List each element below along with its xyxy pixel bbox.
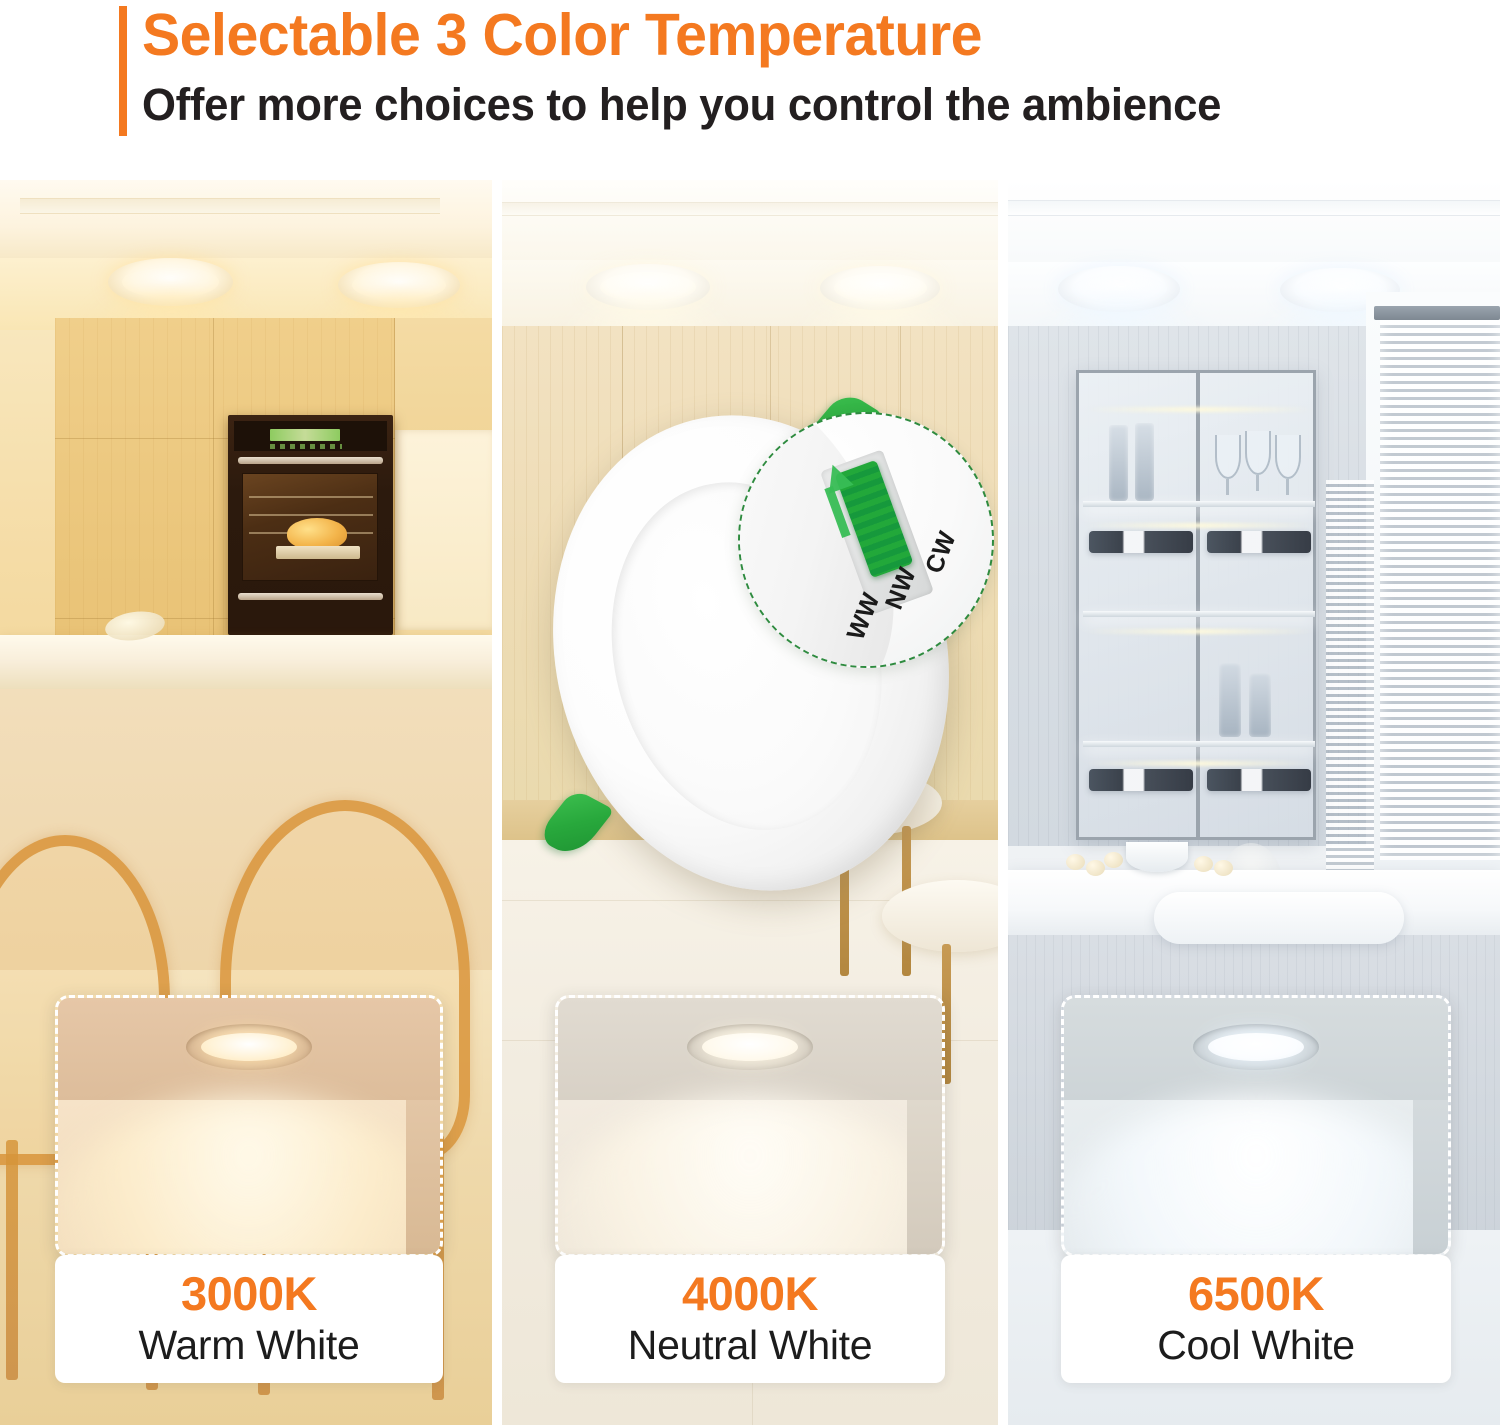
kelvin-name: Neutral White bbox=[628, 1321, 872, 1369]
oven-display bbox=[270, 429, 340, 441]
demo-side-wall bbox=[1413, 1100, 1448, 1254]
ceiling bbox=[1008, 180, 1500, 262]
oven-lower-handle bbox=[238, 593, 383, 600]
liquor-bottle bbox=[1135, 423, 1154, 501]
shelf-led-strip bbox=[1085, 629, 1313, 634]
cabinet-shelf bbox=[1083, 501, 1315, 507]
wine-glass-stem bbox=[1256, 475, 1259, 491]
wine-glass-stem bbox=[1286, 479, 1289, 495]
oven-control-panel bbox=[234, 421, 387, 451]
window-blinds-secondary bbox=[1326, 480, 1374, 870]
onion bbox=[1104, 852, 1123, 868]
cabinet-shelf bbox=[1083, 741, 1315, 747]
demo-side-wall bbox=[907, 1100, 942, 1254]
chair-leg bbox=[6, 1140, 18, 1380]
accent-bar bbox=[119, 6, 127, 136]
panel-cool-white: 6500K Cool White bbox=[1008, 180, 1500, 1425]
ceiling bbox=[502, 180, 998, 260]
neutral-light-demo-box bbox=[555, 995, 945, 1257]
onion bbox=[1086, 860, 1105, 876]
header: Selectable 3 Color Temperature Offer mor… bbox=[0, 0, 1500, 178]
panel-divider bbox=[492, 180, 502, 1425]
rolled-towel bbox=[1154, 892, 1404, 944]
label-card-cool: 6500K Cool White bbox=[1061, 1255, 1451, 1383]
blind-rail bbox=[1374, 306, 1500, 320]
warm-light-demo-box bbox=[55, 995, 443, 1257]
demo-downlight-lens bbox=[201, 1033, 297, 1061]
kelvin-value: 6500K bbox=[1188, 1269, 1324, 1319]
kelvin-value: 4000K bbox=[682, 1269, 818, 1319]
liquor-bottle bbox=[1219, 663, 1241, 737]
built-in-oven bbox=[228, 415, 393, 635]
onion bbox=[1194, 856, 1213, 872]
panel-neutral-white: WW NW CW 4000K Neutral White bbox=[502, 180, 998, 1425]
cool-light-demo-box bbox=[1061, 995, 1451, 1257]
liquor-bottle bbox=[1109, 425, 1128, 501]
ceiling bbox=[0, 180, 492, 258]
cabinet-shelf bbox=[1083, 611, 1315, 617]
wine-bottle bbox=[1089, 769, 1193, 791]
spring-clip bbox=[535, 788, 614, 859]
onion bbox=[1066, 854, 1085, 870]
wine-bottle bbox=[1207, 531, 1311, 553]
liquor-bottle bbox=[1249, 673, 1271, 737]
kelvin-name: Warm White bbox=[139, 1321, 360, 1369]
demo-downlight-lens bbox=[702, 1033, 798, 1061]
window-blinds bbox=[1380, 320, 1500, 860]
baking-tray bbox=[276, 546, 360, 559]
label-card-neutral: 4000K Neutral White bbox=[555, 1255, 945, 1383]
lit-niche bbox=[395, 430, 492, 630]
kelvin-name: Cool White bbox=[1157, 1321, 1355, 1369]
oven-handle bbox=[238, 457, 383, 464]
scene-panels: 3000K Warm White bbox=[0, 180, 1500, 1425]
label-card-warm: 3000K Warm White bbox=[55, 1255, 443, 1383]
countertop bbox=[0, 635, 492, 689]
panel-divider bbox=[998, 180, 1008, 1425]
wine-bottle bbox=[1207, 769, 1311, 791]
panel-warm-white: 3000K Warm White bbox=[0, 180, 492, 1425]
onion bbox=[1214, 860, 1233, 876]
kelvin-value: 3000K bbox=[181, 1269, 317, 1319]
oven-glass-door bbox=[242, 473, 378, 581]
wine-glass bbox=[1275, 435, 1301, 479]
cct-switch-callout: WW NW CW bbox=[738, 412, 994, 668]
shelf-led-strip bbox=[1085, 761, 1313, 766]
header-text-block: Selectable 3 Color Temperature Offer mor… bbox=[142, 0, 1482, 133]
page-subtitle: Offer more choices to help you control t… bbox=[142, 77, 1442, 133]
wine-glass bbox=[1215, 435, 1241, 479]
demo-side-wall bbox=[406, 1100, 440, 1254]
wine-glass-stem bbox=[1226, 479, 1229, 495]
page-title: Selectable 3 Color Temperature bbox=[142, 0, 1442, 70]
serving-bowl bbox=[1126, 842, 1188, 872]
wine-bottle bbox=[1089, 531, 1193, 553]
glass-display-cabinet bbox=[1076, 370, 1316, 840]
ceiling-groove bbox=[502, 202, 998, 216]
shelf-led-strip bbox=[1085, 407, 1313, 412]
ceiling-groove bbox=[20, 198, 440, 214]
oven-buttons bbox=[270, 444, 342, 449]
demo-downlight-lens bbox=[1208, 1033, 1304, 1061]
wine-glass bbox=[1245, 431, 1271, 475]
ceiling-groove bbox=[1008, 200, 1500, 216]
cabinet-mullion bbox=[1196, 373, 1200, 837]
product-feature-banner: Selectable 3 Color Temperature Offer mor… bbox=[0, 0, 1500, 1425]
shelf-led-strip bbox=[1085, 523, 1313, 528]
